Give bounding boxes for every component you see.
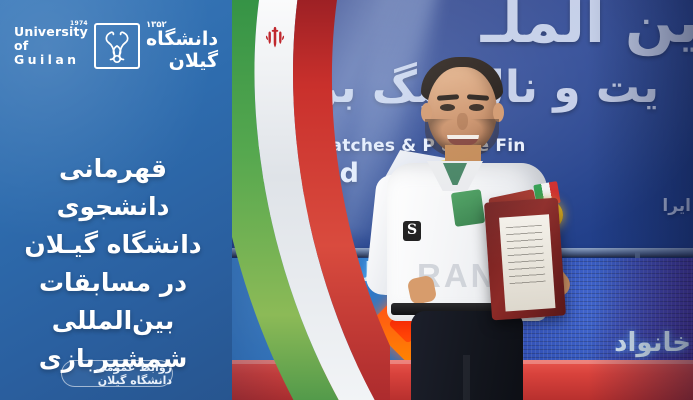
logo-line2: Guilan (14, 53, 88, 67)
page-title: قهرمانی دانشجوی دانشگاه گیـلان در مسابقا… (8, 150, 218, 378)
logo-year-en: 1974 (70, 21, 88, 28)
logo-year-fa: ۱۳۵۲ (146, 20, 167, 30)
logo-persian-name: دانشگاه گیلان (146, 28, 218, 72)
event-photo: ین الملـ یت و نال لیگ برتر Satellite Mat… (215, 0, 693, 400)
university-logo[interactable]: University of Guilan 1974 ۱۳۵ (14, 22, 199, 70)
logo-persian: ۱۳۵۲ دانشگاه گیلان (146, 20, 218, 72)
logo-line1: University of (14, 25, 88, 53)
guilan-cranes-emblem-icon (94, 23, 140, 69)
news-banner: ین الملـ یت و نال لیگ برتر Satellite Mat… (0, 0, 693, 400)
public-relations-credit: روابط عمومی دانشگاه گیلان (61, 360, 173, 387)
logo-english: University of Guilan 1974 (14, 25, 88, 67)
photo-vignette (215, 0, 693, 400)
text-panel: University of Guilan 1974 ۱۳۵ (0, 0, 232, 400)
iran-national-emblem-icon (264, 24, 286, 50)
